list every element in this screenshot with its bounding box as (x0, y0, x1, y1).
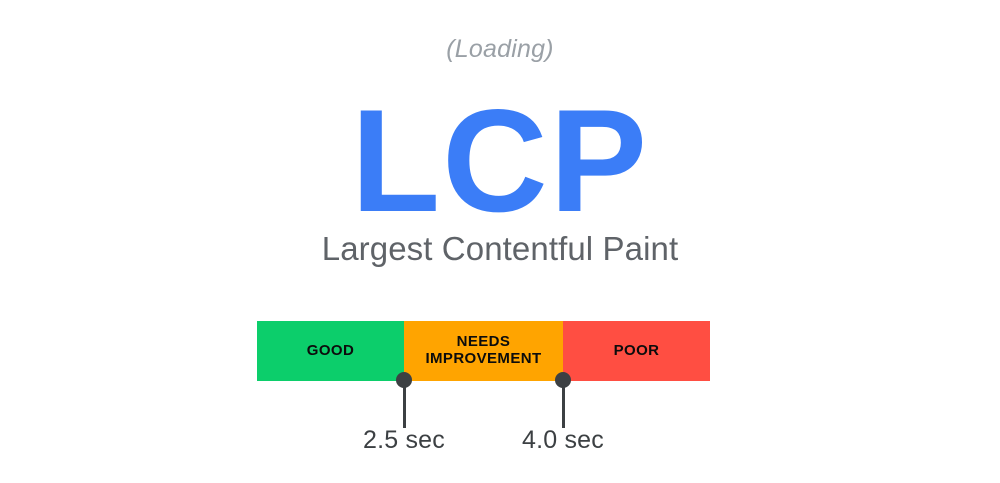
infographic-canvas: (Loading) LCP Largest Contentful Paint G… (0, 0, 1000, 483)
bar-segment-needs-improvement-label-line2: IMPROVEMENT (425, 351, 541, 368)
pin-dot-icon (396, 372, 412, 388)
metric-category-label: (Loading) (0, 36, 1000, 64)
threshold-bar: GOOD NEEDS IMPROVEMENT POOR (257, 321, 710, 381)
bar-segment-poor: POOR (563, 321, 710, 381)
bar-segment-needs-improvement-label-line1: NEEDS (425, 334, 541, 351)
threshold-value-label-second: 4.0 sec (473, 425, 653, 455)
metric-acronym-title: LCP (0, 88, 1000, 234)
bar-segment-needs-improvement-label: NEEDS IMPROVEMENT (425, 334, 541, 368)
threshold-marker-pin-2-5-sec (396, 372, 412, 428)
bar-segment-good: GOOD (257, 321, 404, 381)
threshold-value-label-first: 2.5 sec (314, 425, 494, 455)
bar-segment-needs-improvement: NEEDS IMPROVEMENT (404, 321, 563, 381)
bar-segment-good-label: GOOD (307, 343, 354, 360)
pin-dot-icon (555, 372, 571, 388)
threshold-marker-pin-4-0-sec (555, 372, 571, 428)
bar-segment-poor-label: POOR (614, 343, 660, 360)
metric-full-name-subtitle: Largest Contentful Paint (0, 229, 1000, 269)
